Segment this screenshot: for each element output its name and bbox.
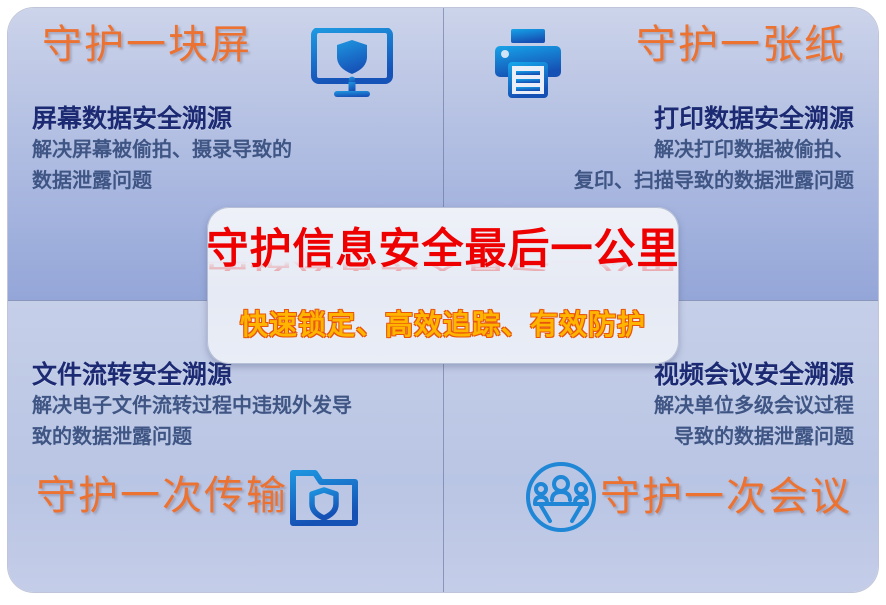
quadrant-body-line: 数据泄露问题 (32, 166, 421, 197)
quadrant-subtitle-video-meeting: 视频会议安全溯源 (465, 360, 854, 391)
quadrant-body-line: 解决单位多级会议过程 (465, 391, 854, 422)
quadrant-headline-video-meeting: 守护一次会议 (600, 476, 852, 518)
printer-icon (489, 28, 567, 98)
poster-root: 守护一块屏 (0, 0, 886, 605)
quadrant-body-line: 解决屏幕被偷拍、摄录导致的 (32, 135, 421, 166)
quadrant-subtitle-print: 打印数据安全溯源 (465, 104, 854, 135)
folder-shield-icon (288, 463, 360, 529)
callout-sub-text: 快速锁定、高效追踪、有效防护 (240, 303, 646, 343)
quadrant-body-line: 导致的数据泄露问题 (465, 422, 854, 453)
quadrant-headline-print: 守护一张纸 (636, 24, 846, 66)
quadrant-headline-file-transfer: 守护一次传输 (36, 475, 288, 517)
callout-main-reflection: 守护信息安全最后一公里 (207, 261, 679, 271)
quadrant-body-line: 解决电子文件流转过程中违规外发导 (32, 391, 421, 422)
meeting-people-icon (522, 459, 600, 535)
quadrant-body-line: 致的数据泄露问题 (32, 422, 421, 453)
monitor-shield-icon (311, 28, 393, 98)
quadrant-body-line: 复印、扫描导致的数据泄露问题 (465, 166, 854, 197)
quadrant-subtitle-file-transfer: 文件流转安全溯源 (32, 360, 421, 391)
quadrant-headline-screen: 守护一块屏 (42, 24, 252, 66)
quadrant-body-line: 解决打印数据被偷拍、 (465, 135, 854, 166)
callout-main-wrap: 守护信息安全最后一公里 守护信息安全最后一公里 (207, 228, 679, 289)
center-callout: 守护信息安全最后一公里 守护信息安全最后一公里 快速锁定、高效追踪、有效防护 (207, 207, 679, 364)
quadrant-subtitle-screen: 屏幕数据安全溯源 (32, 104, 421, 135)
